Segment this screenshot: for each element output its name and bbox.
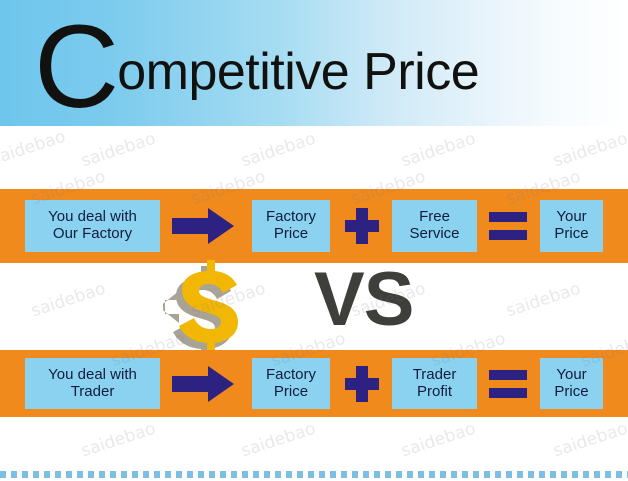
watermark-text: saidebao	[399, 419, 478, 462]
page-title-rest: ompetitive Price	[117, 43, 479, 101]
box-factory-price-top-line2: Price	[266, 226, 316, 243]
watermark-text: saidebao	[504, 279, 583, 322]
equals-icon-bottom	[489, 370, 527, 400]
box-factory-price-bottom: Factory Price	[252, 358, 330, 409]
plus-icon-bottom	[345, 366, 379, 402]
plus-icon-top	[345, 208, 379, 244]
box-source-factory-line1: You deal with	[48, 209, 137, 226]
watermark-text: saidebao	[239, 419, 318, 462]
page-title-initial: C	[34, 1, 117, 133]
watermark-text: saidebao	[79, 129, 158, 172]
box-your-price-bottom: Your Price	[540, 358, 603, 409]
box-your-price-top: Your Price	[540, 200, 603, 252]
box-source-factory-line2: Our Factory	[48, 226, 137, 243]
watermark-text: saidebao	[551, 129, 628, 172]
watermark-text: saidebao	[0, 127, 68, 170]
watermark-text: saidebao	[239, 129, 318, 172]
box-factory-price-top-line1: Factory	[266, 209, 316, 226]
box-trader-profit: Trader Profit	[392, 358, 477, 409]
equals-icon-top	[489, 212, 527, 242]
header-banner: Competitive Price	[0, 0, 628, 126]
box-source-trader-line2: Trader	[48, 384, 137, 401]
page-title: Competitive Price	[34, 8, 479, 126]
box-factory-price-top: Factory Price	[252, 200, 330, 252]
watermark-text: saidebao	[29, 279, 108, 322]
watermark-text: saidebao	[551, 419, 628, 462]
arrow-right-icon	[172, 207, 234, 245]
box-source-trader: You deal with Trader	[25, 358, 160, 409]
watermark-text: saidebao	[399, 129, 478, 172]
box-factory-price-bottom-line2: Price	[266, 384, 316, 401]
box-your-price-bottom-line1: Your	[554, 367, 588, 384]
dollar-sign-icon	[163, 258, 241, 350]
footer-dotted-divider	[0, 471, 628, 478]
box-free-service-line1: Free	[409, 209, 459, 226]
box-factory-price-bottom-line1: Factory	[266, 367, 316, 384]
vs-label: VS	[314, 262, 413, 338]
arrow-right-icon-bottom	[172, 365, 234, 403]
box-your-price-top-line2: Price	[554, 226, 588, 243]
box-trader-profit-line2: Profit	[413, 384, 457, 401]
competitive-price-infographic: Competitive Price You deal with Our Fact…	[0, 0, 628, 481]
box-your-price-bottom-line2: Price	[554, 384, 588, 401]
box-source-factory: You deal with Our Factory	[25, 200, 160, 252]
box-free-service-line2: Service	[409, 226, 459, 243]
box-free-service: Free Service	[392, 200, 477, 252]
box-your-price-top-line1: Your	[554, 209, 588, 226]
watermark-text: saidebao	[79, 419, 158, 462]
box-trader-profit-line1: Trader	[413, 367, 457, 384]
box-source-trader-line1: You deal with	[48, 367, 137, 384]
